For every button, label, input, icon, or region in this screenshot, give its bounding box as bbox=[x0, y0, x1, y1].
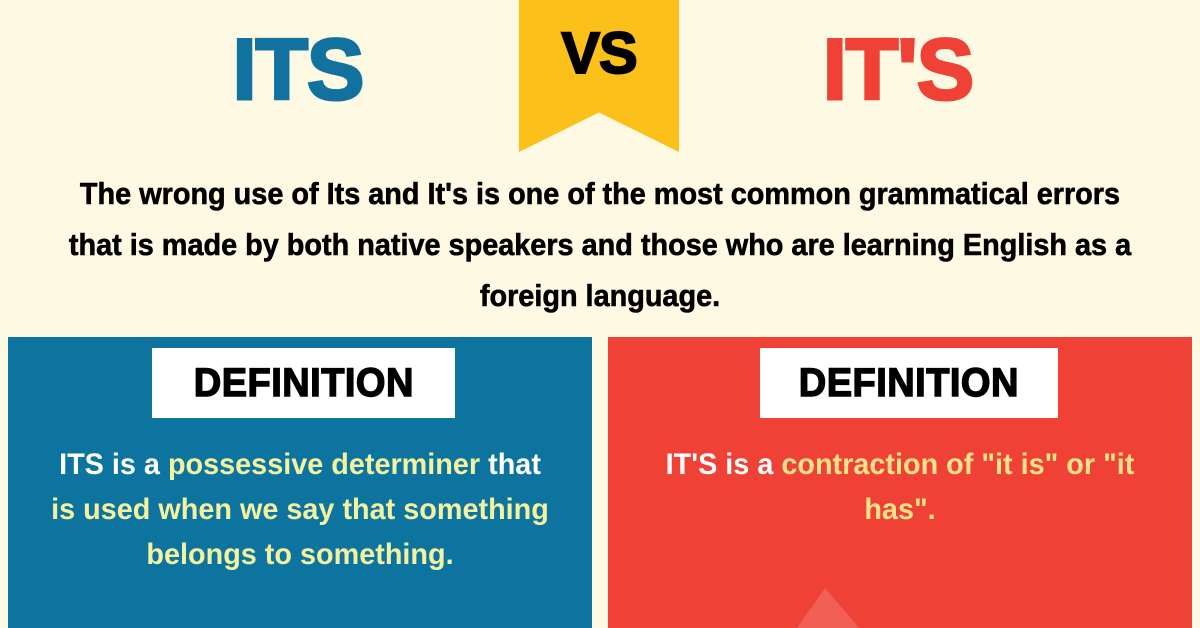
definition-label-its: DEFINITION bbox=[193, 361, 413, 405]
infographic-root: ITS VS IT'S The wrong use of Its and It'… bbox=[0, 0, 1200, 628]
panel-its: DEFINITION ITS is a possessive determine… bbox=[8, 337, 592, 628]
definition-text-segment: contraction of "it is" or "it has". bbox=[781, 448, 1134, 526]
panel-its-apostrophe: DEFINITION IT'S is a contraction of "it … bbox=[608, 337, 1192, 628]
definition-panels: DEFINITION ITS is a possessive determine… bbox=[0, 337, 1200, 628]
definition-text-segment: that bbox=[488, 448, 541, 481]
definition-badge-its-apostrophe: DEFINITION bbox=[760, 348, 1058, 418]
vs-label: VS bbox=[561, 23, 636, 85]
header-row: ITS VS IT'S bbox=[0, 0, 1200, 160]
title-word-its-apostrophe: IT'S bbox=[648, 22, 1148, 118]
definition-text-segment: possessive determiner bbox=[168, 448, 488, 481]
intro-paragraph: The wrong use of Its and It's is one of … bbox=[62, 168, 1137, 321]
title-word-its: ITS bbox=[48, 22, 548, 118]
definition-text-its: ITS is a possessive determiner that is u… bbox=[45, 442, 556, 577]
definition-text-its-apostrophe: IT'S is a contraction of "it is" or "it … bbox=[645, 442, 1156, 532]
definition-text-segment: is used when we say that something belon… bbox=[51, 493, 549, 571]
definition-label-its-apostrophe: DEFINITION bbox=[799, 361, 1019, 405]
definition-text-segment: IT'S is a bbox=[666, 448, 782, 481]
definition-text-segment: ITS is a bbox=[59, 448, 168, 481]
definition-badge-its: DEFINITION bbox=[152, 348, 455, 418]
watermark-arrow-icon bbox=[798, 588, 858, 628]
